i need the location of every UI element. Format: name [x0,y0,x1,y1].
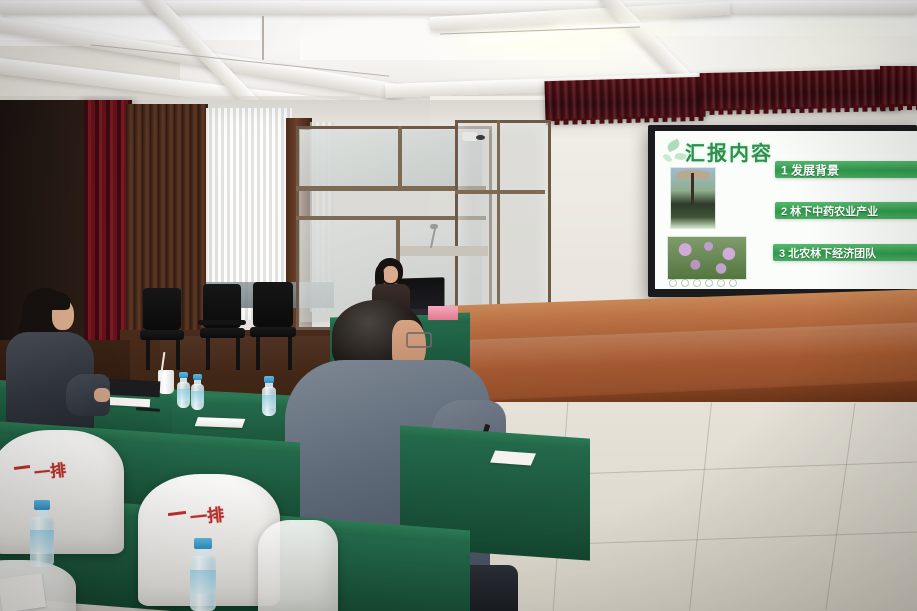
chair-leg [236,338,240,370]
pointer-icon[interactable] [693,279,701,287]
microphone-icon [430,224,438,229]
bottle-label [262,395,276,408]
ceiling-beam [0,1,917,14]
conference-room-photo: 汇报内容 1 发展背景 2 林下中药农业产业 3 北农林下经济团队 [0,0,917,611]
booth-mullion [455,190,545,194]
slide-bar-3-label: 3 北农林下经济团队 [779,245,876,261]
closed-laptop[interactable] [108,379,161,398]
bottle-label [30,530,54,552]
slide-bar-2-label: 2 林下中药农业产业 [781,203,878,219]
chair-leg [256,337,260,370]
leaf-icon [666,139,682,153]
slide-thumbnail-1 [670,167,716,229]
presenter-toolbar[interactable] [669,279,737,287]
slide-bar-3[interactable]: 3 北农林下经济团队 [773,244,917,261]
pink-folder[interactable] [428,306,458,320]
bottle-cap [194,538,212,549]
chair-leg [288,337,292,370]
slide-bar-1[interactable]: 1 发展背景 [775,161,917,178]
booth-desk [400,246,488,256]
slide-icon[interactable] [717,279,725,287]
chair-leg [146,340,150,370]
eyeglasses-icon [406,332,432,348]
close-icon[interactable] [705,279,713,287]
camera-lens-icon [476,135,485,140]
paper-sheet[interactable] [0,573,46,611]
bottle-label [191,391,204,403]
projection-screen-frame: 汇报内容 1 发展背景 2 林下中药农业产业 3 北农林下经济团队 [648,125,917,297]
office-chair-seat [250,327,296,337]
booth-mullion [497,120,500,326]
woman-hand [94,388,110,402]
more-icon[interactable] [729,279,737,287]
chair-armrest [198,320,246,325]
chair-leg [176,340,180,370]
chair-cover-label: 一排 [189,500,225,528]
highlighter-icon[interactable] [681,279,689,287]
bottle-cap [34,500,50,510]
woman-hair-fringe [44,292,70,310]
bottle-label [177,389,190,401]
office-chair[interactable] [143,288,181,330]
chair-leg [206,338,210,370]
chair-cover-label: 一排 [33,456,67,483]
window-valance [700,69,901,111]
bottle-cap [264,376,274,383]
chair-cover [0,430,124,554]
presenter-face [383,266,398,283]
window-valance [544,77,705,121]
pen-icon[interactable] [669,279,677,287]
office-chair[interactable] [253,282,293,327]
office-chair-seat [200,328,245,338]
slide-thumbnail-2 [667,236,747,280]
projection-screen: 汇报内容 1 发展背景 2 林下中药农业产业 3 北农林下经济团队 [655,131,917,289]
window-valance [880,66,917,106]
place-card[interactable] [195,417,246,428]
chair-cover [258,520,338,611]
office-chair-seat [140,330,184,340]
slide-bar-2[interactable]: 2 林下中药农业产业 [775,202,917,219]
booth-mullion [398,126,402,188]
slide-title: 汇报内容 [685,137,773,166]
control-booth-right [455,120,551,332]
slide-bar-1-label: 1 发展背景 [781,161,839,178]
paper-cup[interactable] [158,370,174,394]
ceiling-wire [262,16,264,60]
leaf-icon [662,153,672,164]
bottle-label [190,570,216,594]
